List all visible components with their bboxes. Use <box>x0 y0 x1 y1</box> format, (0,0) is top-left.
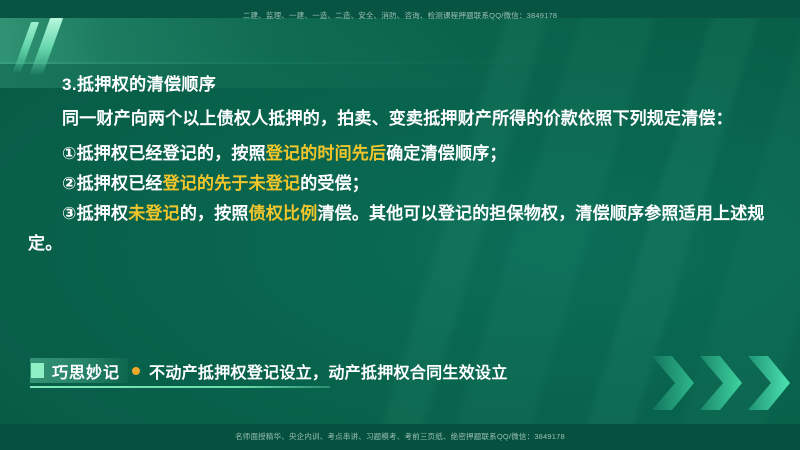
decorative-slash-icon <box>13 22 39 72</box>
slide-content: 3.抵押权的清偿顺序 同一财产向两个以上债权人抵押的，拍卖、变卖抵押财产所得的价… <box>0 70 800 260</box>
highlighted-text: 登记的时间先后 <box>266 144 386 163</box>
chevron-right-icon <box>746 354 792 412</box>
tip-chip: 巧思妙记 <box>30 358 128 383</box>
highlighted-text: 登记的先于未登记 <box>163 174 301 193</box>
plain-text: 确定清偿顺序； <box>386 144 506 163</box>
tip-text: 不动产抵押权登记设立，动产抵押权合同生效设立 <box>149 359 508 383</box>
page-title: 3.抵押权的清偿顺序 <box>62 70 800 95</box>
list-item: ①抵押权已经登记的，按照登记的时间先后确定清偿顺序； <box>28 139 776 169</box>
tip-underline <box>30 386 330 388</box>
plain-text: ③抵押权 <box>62 204 128 223</box>
highlighted-text: 债权比例 <box>249 204 318 223</box>
header-strip <box>0 0 800 18</box>
watermark-top: 二建、监理、一建、一造、二造、安全、消防、咨询、检测课程押题联系QQ/微信：38… <box>0 10 800 21</box>
chevron-right-icon <box>698 354 744 412</box>
intro-paragraph: 同一财产向两个以上债权人抵押的，拍卖、变卖抵押财产所得的价款依照下列规定清偿： <box>0 105 800 133</box>
highlighted-text: 未登记 <box>128 204 180 223</box>
bullet-dot-icon <box>132 367 140 375</box>
watermark-bottom: 名师面授精华、央企内训、考点串讲、习题模考、考前三页纸、绝密押题联系QQ/微信：… <box>0 431 800 442</box>
tip-label: 巧思妙记 <box>52 359 120 383</box>
top-highlight-band <box>0 18 760 64</box>
plain-text: ①抵押权已经登记的，按照 <box>62 144 266 163</box>
ordered-rules-list: ①抵押权已经登记的，按照登记的时间先后确定清偿顺序； ②抵押权已经登记的先于未登… <box>0 139 800 260</box>
decorative-slash-icon <box>30 18 63 74</box>
plain-text: ②抵押权已经 <box>62 174 163 193</box>
plain-text: 的受偿； <box>300 174 369 193</box>
tip-banner: 巧思妙记 不动产抵押权登记设立，动产抵押权合同生效设立 <box>30 358 508 383</box>
chevron-decoration-group <box>650 354 792 412</box>
square-marker-icon <box>31 363 44 378</box>
chevron-right-icon <box>650 354 696 412</box>
plain-text: 的，按照 <box>180 204 249 223</box>
list-item: ③抵押权未登记的，按照债权比例清偿。其他可以登记的担保物权，清偿顺序参照适用上述… <box>28 199 776 260</box>
footer-strip <box>0 424 800 450</box>
slide-canvas: 二建、监理、一建、一造、二造、安全、消防、咨询、检测课程押题联系QQ/微信：38… <box>0 0 800 450</box>
list-item: ②抵押权已经登记的先于未登记的受偿； <box>28 169 776 199</box>
